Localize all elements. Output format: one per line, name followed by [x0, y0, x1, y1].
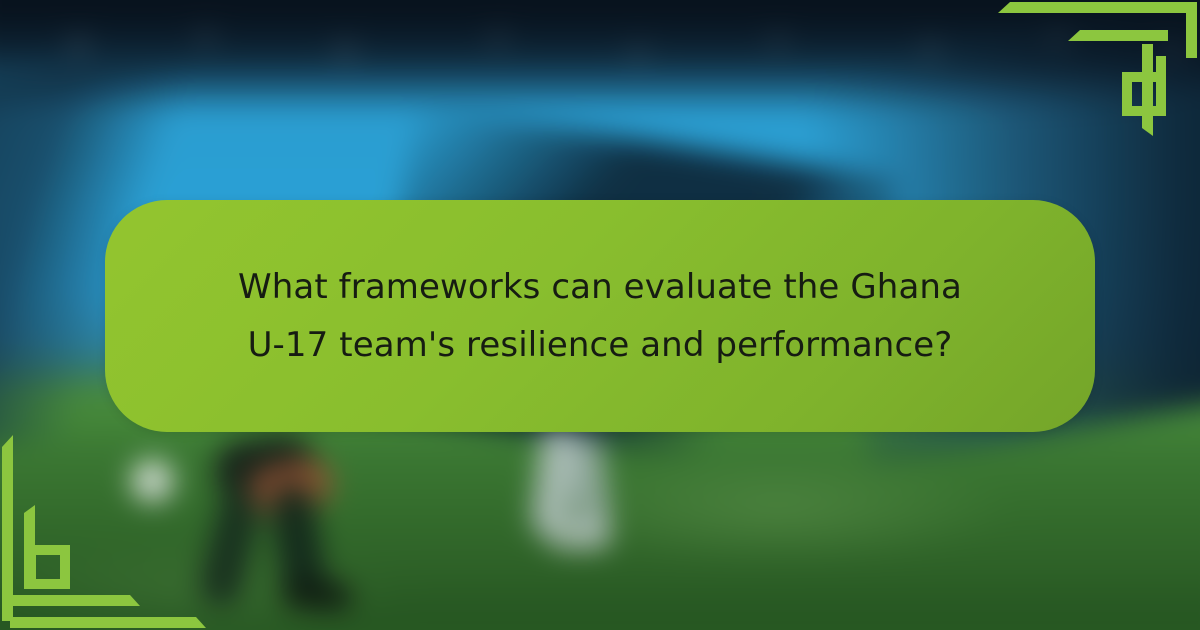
question-card: What frameworks can evaluate the Ghana U…	[105, 200, 1095, 432]
social-card-canvas: What frameworks can evaluate the Ghana U…	[0, 0, 1200, 630]
player-figure-boot	[281, 579, 353, 611]
crowd-band	[0, 0, 1200, 93]
second-player-boot	[549, 524, 610, 549]
question-text: What frameworks can evaluate the Ghana U…	[220, 258, 980, 375]
football-icon	[131, 460, 173, 502]
